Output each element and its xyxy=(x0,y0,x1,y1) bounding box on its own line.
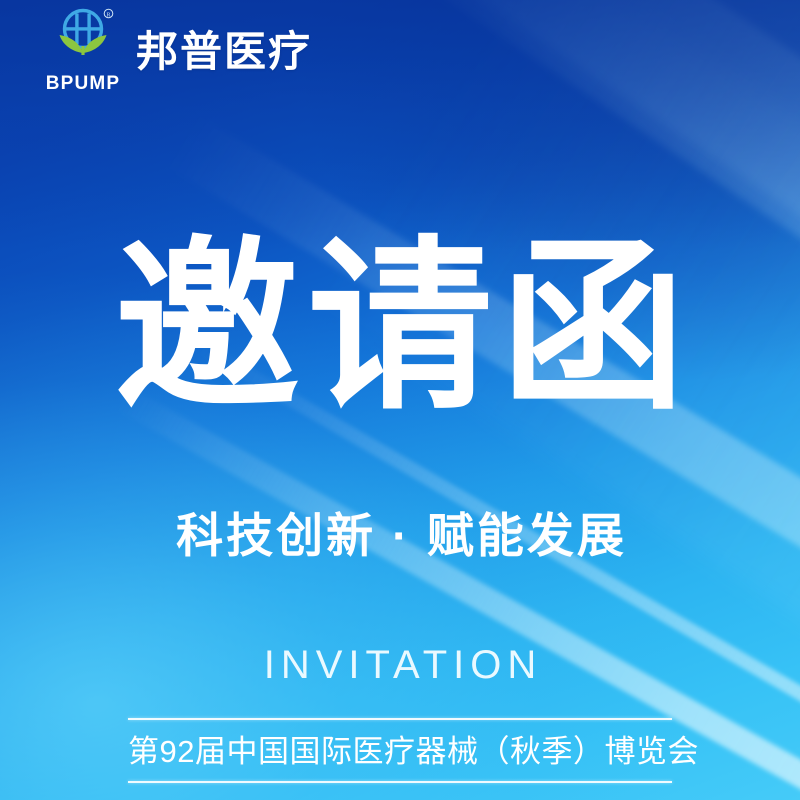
svg-text:R: R xyxy=(106,12,110,18)
footer-rule-bottom xyxy=(128,781,672,783)
brand-header: R BPUMP 邦普医疗 xyxy=(44,8,312,94)
event-name: 第92届中国国际医疗器械（秋季）博览会 xyxy=(128,720,672,781)
page-subtitle: 科技创新 · 赋能发展 xyxy=(0,508,800,564)
page-title-english: INVITATION xyxy=(0,645,800,685)
logo-wordmark: BPUMP xyxy=(44,74,122,94)
footer: 第92届中国国际医疗器械（秋季）博览会 xyxy=(128,718,672,783)
invitation-poster: R BPUMP 邦普医疗 邀请函 科技创新 · 赋能发展 INVITATION … xyxy=(0,0,800,800)
company-name: 邦普医疗 xyxy=(136,31,312,73)
page-title: 邀请函 xyxy=(0,236,800,421)
bpump-flower-logo-icon: R BPUMP xyxy=(44,8,122,94)
